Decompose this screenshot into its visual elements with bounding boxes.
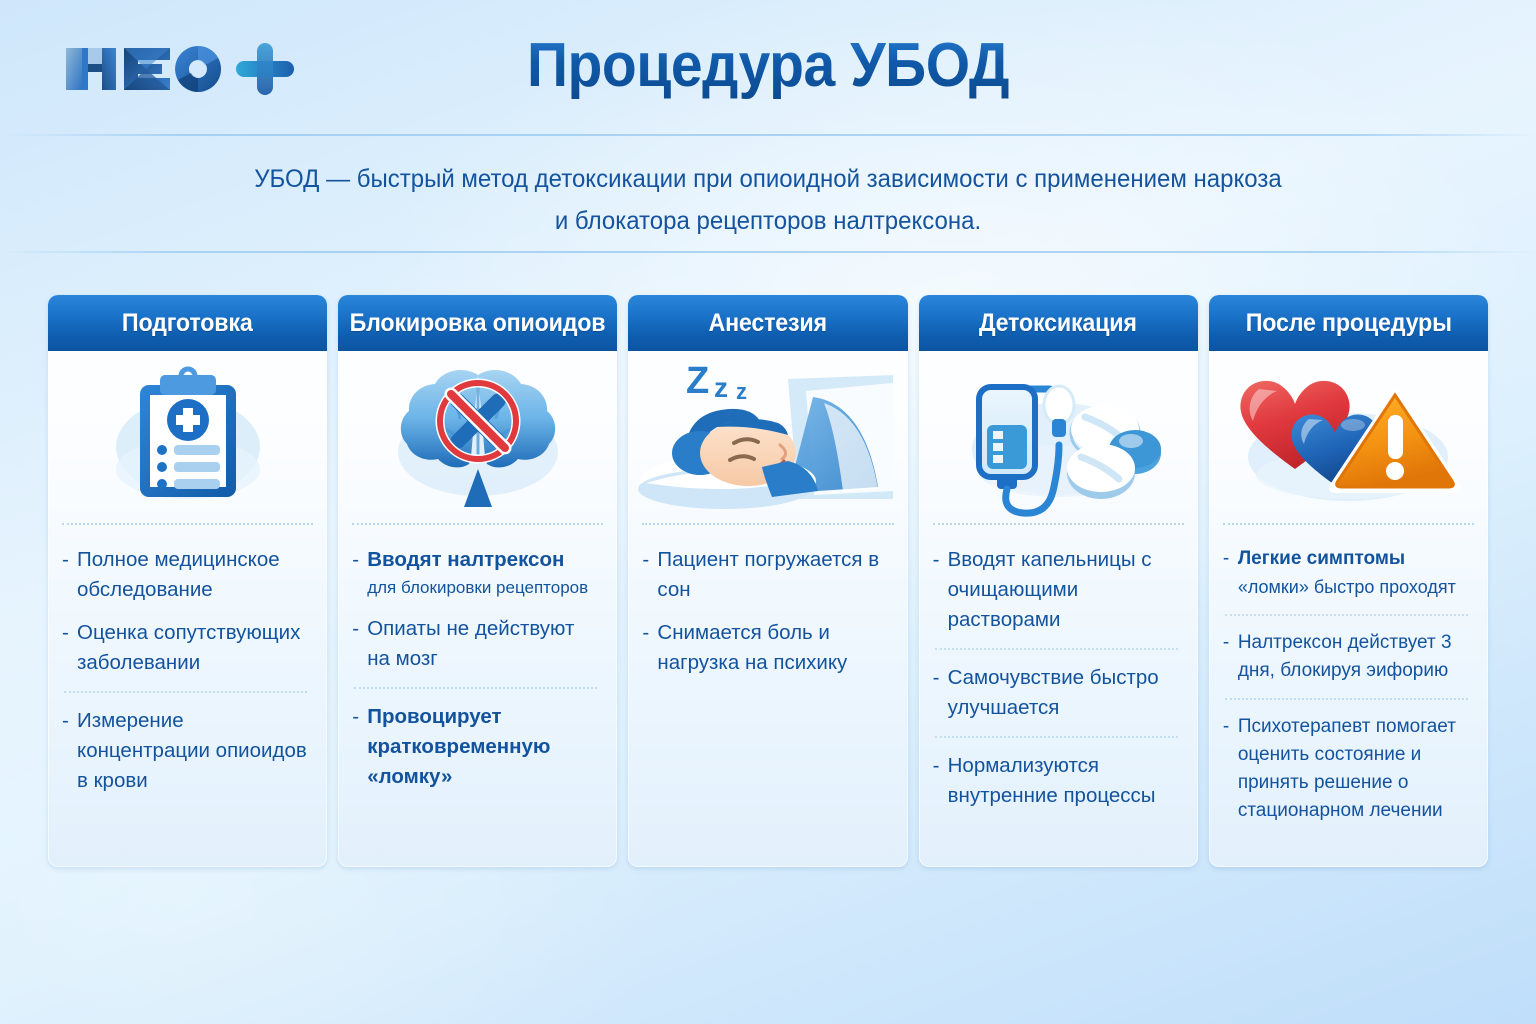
step-bullets: - Пациент погружается в сон - Снимается …: [628, 525, 907, 867]
bullet-item: - Вводят налтрексон для блокировки рецеп…: [352, 545, 601, 601]
bullet-item: - Измерение концентрации опиоидов в кров…: [62, 706, 311, 796]
subtitle-line-2: и блокатора рецепторов налтрексона.: [31, 200, 1506, 242]
svg-text:z: z: [736, 379, 747, 404]
bullet-separator: [64, 691, 307, 693]
step-card-after-procedure[interactable]: После процедуры: [1209, 295, 1488, 867]
bullet-item: - Оценка сопутствующих заболевании: [62, 618, 311, 678]
bullet-dash: -: [352, 614, 367, 674]
page-subtitle: УБОД — быстрый метод детоксикации при оп…: [31, 158, 1506, 242]
step-card-header: Подготовка: [48, 295, 327, 351]
step-card-preparation[interactable]: Подготовка: [48, 295, 327, 867]
bullet-dash: -: [352, 545, 367, 601]
bullet-dash: -: [642, 618, 657, 678]
step-card-opioid-blocking[interactable]: Блокировка опиоидов: [338, 295, 617, 867]
page-title: Процедура УБОД: [61, 30, 1474, 101]
bullet-item: - Легкие симптомы «ломки» быстро проходя…: [1223, 545, 1472, 601]
bullet-text: Самочувствие быстро улучшается: [948, 666, 1159, 719]
bullet-dash: -: [933, 545, 948, 635]
steps-row: Подготовка: [48, 295, 1488, 867]
bullet-text: Измерение концентрации опиоидов в крови: [77, 709, 307, 792]
step-card-header: Блокировка опиоидов: [338, 295, 617, 351]
bullet-text: Полное медицинское обследование: [77, 548, 280, 601]
bullet-dash: -: [62, 618, 77, 678]
step-bullets: - Полное медицинское обследование - Оцен…: [48, 525, 327, 867]
step-icon-area: [48, 351, 327, 523]
bullet-dash: -: [352, 702, 367, 792]
step-card-header: После процедуры: [1209, 295, 1488, 351]
step-title: После процедуры: [1245, 309, 1451, 338]
bullet-item: - Снимается боль и нагрузка на психику: [642, 618, 891, 678]
bullet-text: Опиаты не действуют на мозг: [367, 617, 574, 670]
brain-blocked-icon: [378, 357, 578, 517]
hearts-warning-icon: [1223, 357, 1473, 517]
bullet-text: Пациент погружается в сон: [657, 548, 879, 601]
bullet-text: Вводят капельницы с очищающими растворам…: [948, 548, 1152, 631]
step-card-detox[interactable]: Детоксикация: [919, 295, 1198, 867]
bullet-item: - Нормализуются внутренние процессы: [933, 751, 1182, 811]
bullet-item: - Самочувствие быстро улучшается: [933, 663, 1182, 723]
bullet-item: - Полное медицинское обследование: [62, 545, 311, 605]
step-title: Детоксикация: [979, 309, 1137, 338]
bullet-text: Легкие симптомы: [1238, 548, 1405, 569]
divider-bottom: [0, 251, 1536, 253]
bullet-dash: -: [642, 545, 657, 605]
step-icon-area: [919, 351, 1198, 523]
step-title: Блокировка опиоидов: [350, 309, 606, 338]
bullet-item: - Пациент погружается в сон: [642, 545, 891, 605]
step-title: Подготовка: [122, 309, 253, 338]
step-icon-area: [1209, 351, 1488, 523]
bullet-item: - Налтрексон действует 3 дня, блокируя э…: [1223, 629, 1472, 685]
bullet-text: Вводят налтрексон: [367, 548, 564, 571]
bullet-separator: [935, 648, 1178, 650]
bullet-dash: -: [1223, 713, 1238, 825]
sleeping-patient-icon: Z z z: [638, 357, 898, 517]
bullet-dash: -: [1223, 629, 1238, 685]
bullet-subtext: «ломки» быстро проходят: [1238, 573, 1472, 601]
bullet-text: Провоцирует кратковременную «ломку»: [367, 705, 550, 788]
step-icon-area: Z z z: [628, 351, 907, 523]
bullet-separator: [935, 736, 1178, 738]
bullet-dash: -: [62, 545, 77, 605]
step-card-header: Анестезия: [628, 295, 907, 351]
bullet-text: Психотерапевт помогает оценить состояние…: [1238, 716, 1456, 821]
subtitle-line-1: УБОД — быстрый метод детоксикации при оп…: [31, 158, 1506, 200]
step-card-header: Детоксикация: [919, 295, 1198, 351]
bullet-dash: -: [933, 663, 948, 723]
page-header: Процедура УБОД: [0, 0, 1536, 134]
step-icon-area: [338, 351, 617, 523]
step-bullets: - Вводят капельницы с очищающими раствор…: [919, 525, 1198, 867]
bullet-text: Оценка сопутствующих заболевании: [77, 621, 300, 674]
iv-drip-pills-icon: [953, 357, 1163, 517]
bullet-separator: [1225, 698, 1468, 700]
bullet-dash: -: [1223, 545, 1238, 601]
step-card-anesthesia[interactable]: Анестезия: [628, 295, 907, 867]
divider-top: [0, 134, 1536, 136]
svg-text:z: z: [714, 372, 728, 403]
bullet-dash: -: [62, 706, 77, 796]
step-bullets: - Легкие симптомы «ломки» быстро проходя…: [1209, 525, 1488, 867]
step-bullets: - Вводят налтрексон для блокировки рецеп…: [338, 525, 617, 867]
bullet-item: - Провоцирует кратковременную «ломку»: [352, 702, 601, 792]
bullet-separator: [354, 687, 597, 689]
bullet-text: Нормализуются внутренние процессы: [948, 754, 1156, 807]
bullet-text: Снимается боль и нагрузка на психику: [657, 621, 847, 674]
bullet-text: Налтрексон действует 3 дня, блокируя эиф…: [1238, 632, 1452, 681]
bullet-item: - Вводят капельницы с очищающими раствор…: [933, 545, 1182, 635]
bullet-item: - Психотерапевт помогает оценить состоян…: [1223, 713, 1472, 825]
bullet-item: - Опиаты не действуют на мозг: [352, 614, 601, 674]
step-title: Анестезия: [709, 309, 827, 338]
bullet-dash: -: [933, 751, 948, 811]
svg-text:Z: Z: [686, 360, 709, 402]
bullet-subtext: для блокировки рецепторов: [367, 575, 601, 601]
clipboard-medical-icon: [98, 357, 278, 517]
bullet-separator: [1225, 614, 1468, 616]
